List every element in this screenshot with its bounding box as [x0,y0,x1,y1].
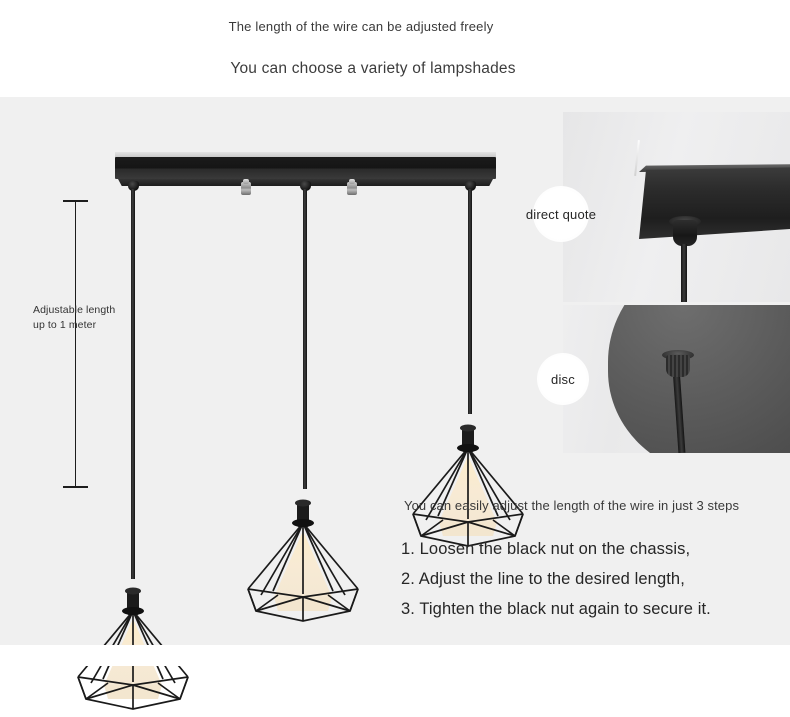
header-tagline-secondary: You can choose a variety of lampshades [0,60,768,78]
instruction-step: 1. Loosen the black nut on the chassis, [401,534,781,564]
dimension-cap-bottom [63,486,88,488]
pendant-cord-left [131,189,135,579]
instructions-lead: You can easily adjust the length of the … [404,498,739,513]
footer-spacer [0,645,790,666]
bar-body [115,157,496,179]
mounting-screw-right [347,182,357,195]
header-tagline-primary: The length of the wire can be adjusted f… [0,19,756,34]
callout-badge-disc: disc [537,353,589,405]
callout-badge-direct-quote: direct quote [533,186,589,242]
dimension-label: Adjustable length up to 1 meter [33,303,119,333]
dimension-line [75,200,76,487]
lamp-cage-frame [248,523,358,621]
lamp-top-fitting [292,500,314,528]
pendant-lamp-right [393,404,543,554]
photo-chassis-body [639,167,790,239]
lamp-top-fitting [457,425,479,453]
lamp-cage-frame [413,448,523,546]
instruction-step: 2. Adjust the line to the desired length… [401,564,781,594]
pendant-cord-right [468,189,472,414]
instruction-step: 3. Tighten the black nut again to secure… [401,594,781,624]
photo-disc-nut [666,355,690,377]
mounting-screw-left [241,182,251,195]
header-banner: The length of the wire can be adjusted f… [0,0,790,97]
pendant-cord-middle [303,189,307,489]
photo-disc-canopy [608,305,790,453]
pendant-lamp-middle [228,479,378,629]
photo-chassis-nut [673,220,697,246]
dimension-cap-top [63,200,88,202]
pendant-lamp-left [58,567,208,717]
lamp-top-fitting [122,588,144,616]
instructions-list: 1. Loosen the black nut on the chassis, … [401,534,781,624]
detail-photo-chassis [563,112,790,302]
photo-chassis-cord [681,244,687,302]
detail-photo-disc [563,305,790,453]
